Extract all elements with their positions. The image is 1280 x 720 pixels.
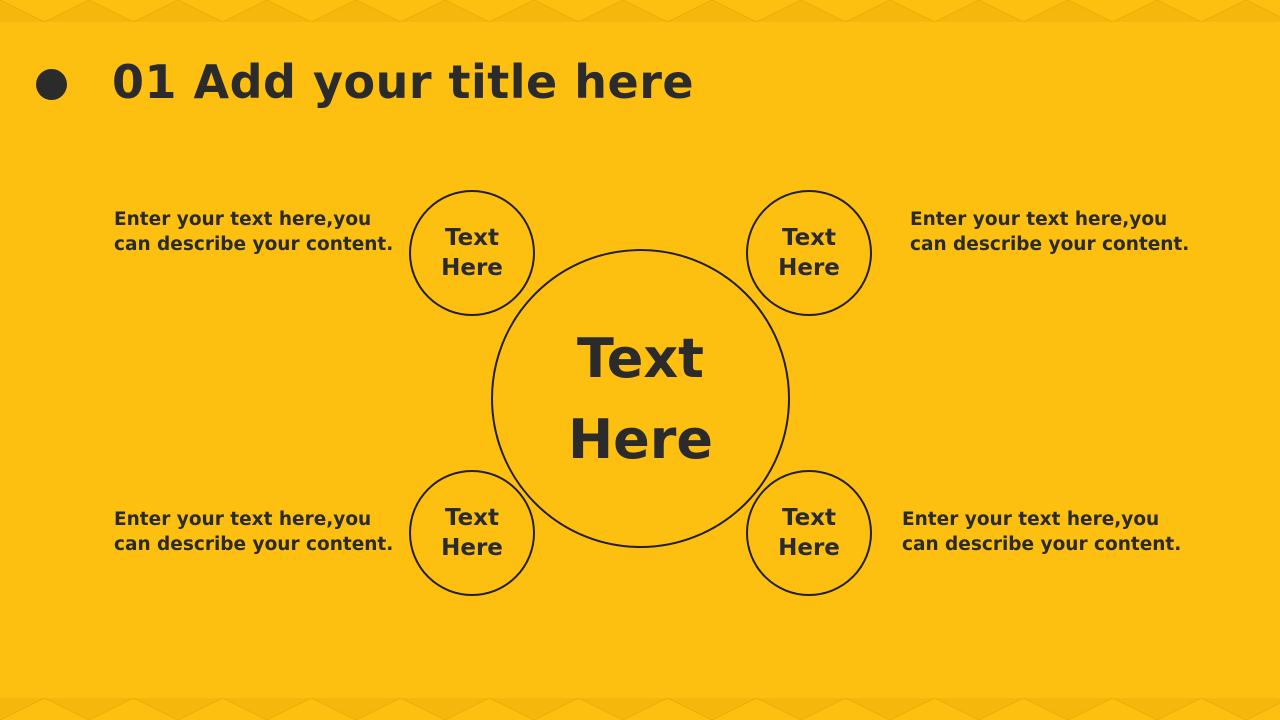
circle-node-bottom-left[interactable]: Text Here: [409, 470, 535, 596]
circle-node-bottom-right-line1: Text: [782, 503, 836, 533]
caption-bottom-left: Enter your text here,you can describe yo…: [114, 508, 414, 557]
center-circle-node[interactable]: Text Here: [491, 249, 790, 548]
circle-node-bottom-left-line1: Text: [445, 503, 499, 533]
zigzag-edge-top-icon: [0, 0, 1280, 22]
center-circle-line2: Here: [568, 399, 713, 480]
center-circle-line1: Text: [577, 318, 704, 399]
circle-node-top-left[interactable]: Text Here: [409, 190, 535, 316]
circle-node-top-left-line2: Here: [441, 253, 503, 283]
zigzag-edge-bottom-icon: [0, 698, 1280, 720]
slide-canvas: 01 Add your title here Enter your text h…: [0, 0, 1280, 720]
caption-top-left: Enter your text here,you can describe yo…: [114, 208, 414, 257]
circle-node-bottom-right-line2: Here: [778, 533, 840, 563]
bullet-dot-icon: [36, 69, 67, 100]
page-title: 01 Add your title here: [36, 55, 694, 109]
caption-bottom-right: Enter your text here,you can describe yo…: [902, 508, 1212, 557]
circle-node-top-right[interactable]: Text Here: [746, 190, 872, 316]
circle-node-top-right-line2: Here: [778, 253, 840, 283]
circle-node-bottom-left-line2: Here: [441, 533, 503, 563]
circle-node-top-left-line1: Text: [445, 223, 499, 253]
circle-node-top-right-line1: Text: [782, 223, 836, 253]
page-title-text: 01 Add your title here: [112, 55, 694, 109]
caption-top-right: Enter your text here,you can describe yo…: [910, 208, 1220, 257]
circle-node-bottom-right[interactable]: Text Here: [746, 470, 872, 596]
